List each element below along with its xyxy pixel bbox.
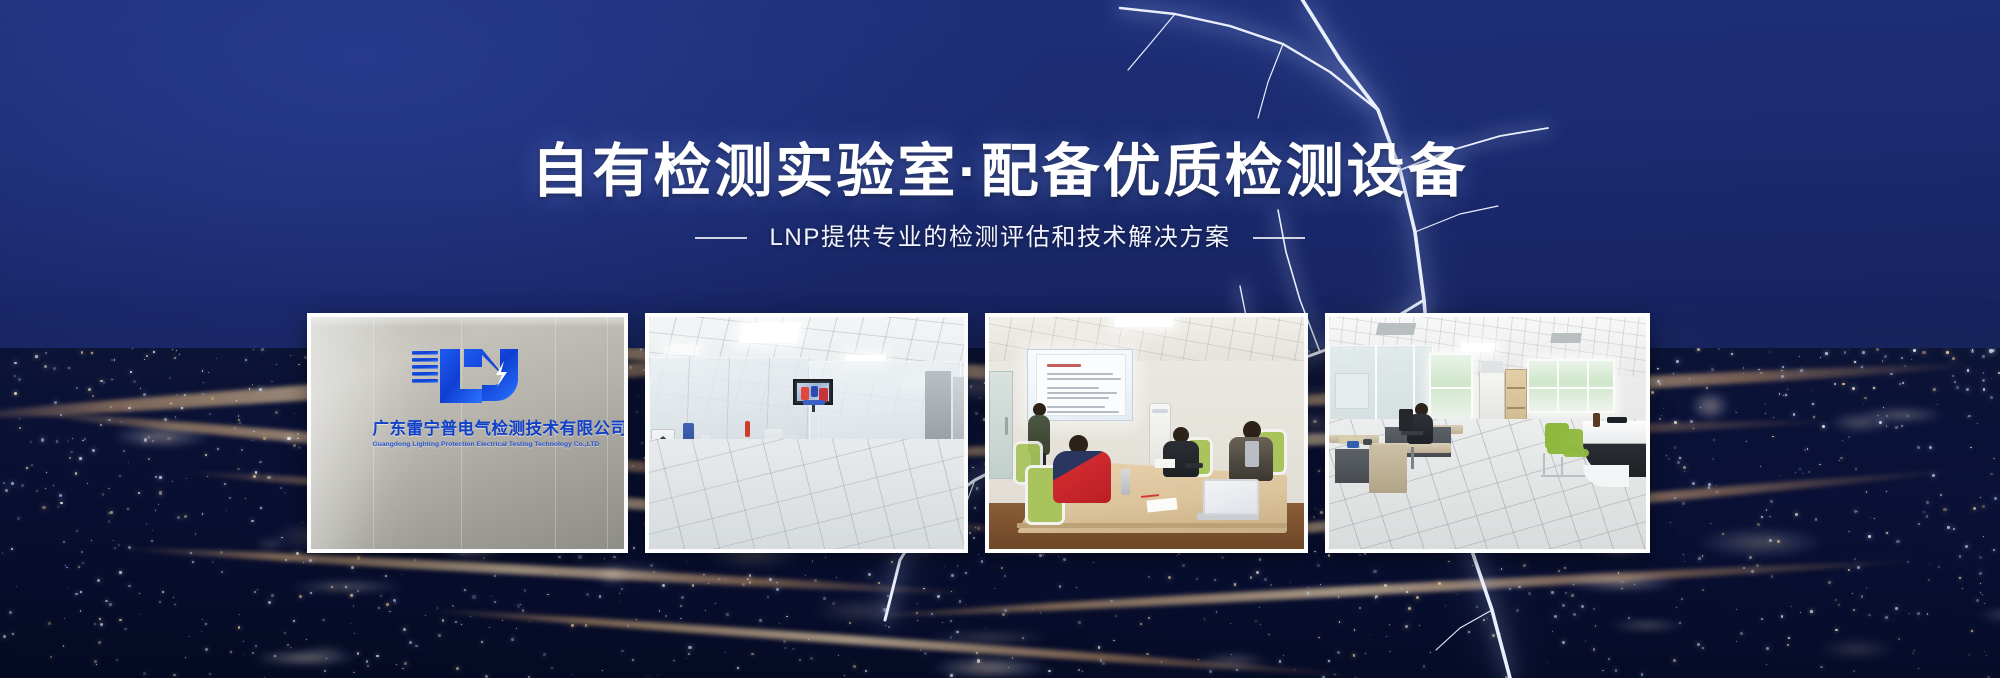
city-light-point [1353, 654, 1356, 657]
city-light-point [1736, 412, 1737, 413]
city-light-point [1168, 576, 1171, 579]
city-light-point [1713, 439, 1715, 441]
city-light-point [981, 560, 984, 563]
city-light-point [1731, 353, 1733, 355]
city-light-point [1661, 415, 1663, 417]
city-light-point [1595, 625, 1597, 627]
city-light-point [1787, 644, 1789, 646]
city-light-point [158, 504, 159, 505]
city-light-cluster [1819, 639, 1894, 659]
ceiling-light [1114, 317, 1174, 327]
city-light-point [76, 387, 78, 389]
gallery-item-office-area[interactable] [1325, 313, 1650, 553]
city-light-point [1899, 383, 1901, 385]
city-light-point [202, 513, 203, 514]
city-light-point [162, 591, 164, 593]
city-light-point [1547, 662, 1548, 663]
city-light-point [1216, 611, 1217, 612]
city-light-point [1773, 417, 1775, 419]
monitor-screen [797, 383, 829, 401]
city-light-point [251, 520, 254, 523]
city-light-point [116, 659, 118, 661]
city-light-point [409, 641, 412, 644]
city-light-point [1063, 558, 1066, 561]
city-light-point [114, 359, 116, 361]
city-light-point [1998, 372, 2000, 374]
counter-device [1607, 417, 1627, 423]
city-light-point [688, 646, 691, 649]
city-light-point [396, 664, 397, 665]
city-light-point [1221, 556, 1224, 559]
city-light-point [239, 422, 241, 424]
city-light-point [1882, 360, 1884, 362]
slide-text-line [1047, 373, 1113, 375]
city-light-point [1932, 474, 1935, 477]
chair-leg [1543, 453, 1545, 477]
banner-title: 自有检测实验室·配备优质检测设备 [531, 137, 1468, 207]
city-light-point [558, 556, 561, 559]
city-light-point [494, 601, 497, 604]
city-light-point [5, 489, 8, 492]
city-light-point [1848, 531, 1849, 532]
city-light-point [965, 604, 966, 605]
city-light-point [1982, 594, 1983, 595]
city-light-point [245, 359, 247, 361]
city-light-point [1760, 466, 1761, 467]
slide-heading [1047, 364, 1081, 367]
city-light-point [310, 592, 312, 594]
city-light-point [1365, 653, 1366, 654]
city-light-point [63, 541, 66, 544]
city-light-point [1984, 603, 1985, 604]
city-light-point [1268, 634, 1269, 635]
city-light-point [59, 494, 62, 497]
city-light-point [1483, 619, 1486, 622]
city-light-point [1711, 368, 1714, 371]
city-light-point [128, 546, 131, 549]
city-light-point [144, 359, 146, 361]
city-light-point [586, 593, 589, 596]
city-light-point [1102, 662, 1105, 665]
city-light-point [1890, 373, 1893, 376]
city-light-point [173, 597, 174, 598]
city-light-point [1926, 501, 1929, 504]
city-light-point [18, 378, 21, 381]
city-light-point [14, 392, 17, 395]
city-light-point [1359, 607, 1361, 609]
city-light-point [1178, 553, 1180, 555]
city-light-point [1895, 607, 1898, 610]
city-light-point [688, 653, 690, 655]
city-light-point [75, 593, 78, 596]
ceiling-light [664, 345, 700, 355]
city-light-point [1901, 425, 1903, 427]
city-light-point [680, 605, 682, 607]
city-light-point [298, 446, 301, 449]
paper-document [1155, 459, 1175, 468]
city-light-point [354, 633, 355, 634]
city-light-point [1852, 387, 1855, 390]
city-light-point [72, 438, 73, 439]
city-light-point [221, 571, 223, 573]
city-light-point [491, 596, 492, 597]
city-light-point [1907, 561, 1909, 563]
city-light-point [389, 611, 391, 613]
city-light-point [164, 418, 167, 421]
city-light-point [1337, 651, 1340, 654]
city-light-point [1968, 415, 1971, 418]
city-light-point [275, 411, 278, 414]
city-light-point [1234, 583, 1236, 585]
city-light-point [1977, 423, 1978, 424]
city-light-point [185, 478, 187, 480]
lnp-logo-icon [408, 345, 528, 407]
city-light-point [376, 655, 378, 657]
photo-gallery: 广东雷宁普电气检测技术有限公司 Guangdong Lighting Prote… [307, 313, 1653, 553]
city-light-point [202, 370, 204, 372]
city-light-point [1854, 361, 1855, 362]
city-light-point [253, 349, 254, 350]
city-light-point [1573, 613, 1576, 616]
city-light-point [1885, 616, 1887, 618]
city-light-point [950, 620, 952, 622]
city-light-point [224, 483, 226, 485]
city-light-point [681, 596, 684, 599]
city-light-point [322, 619, 325, 622]
city-light-point [1781, 375, 1784, 378]
city-light-point [659, 610, 661, 612]
city-light-point [1100, 659, 1103, 662]
city-light-point [263, 437, 266, 440]
city-light-point [91, 540, 92, 541]
city-light-point [779, 623, 780, 624]
city-light-point [177, 516, 180, 519]
city-light-point [543, 653, 546, 656]
city-light-point [1779, 393, 1781, 395]
city-light-point [1991, 378, 1992, 379]
city-light-point [1389, 624, 1390, 625]
city-light-point [108, 520, 111, 523]
city-light-point [119, 571, 121, 573]
screen-content [801, 387, 809, 400]
city-light-point [1848, 569, 1851, 572]
city-light-point [54, 401, 57, 404]
photo-testing-laboratory [649, 317, 964, 549]
city-light-point [1875, 388, 1876, 389]
city-light-point [1780, 475, 1781, 476]
city-light-point [287, 644, 289, 646]
city-light-point [1826, 372, 1827, 373]
city-light-point [1746, 441, 1747, 442]
equipment-behind-glass [1335, 373, 1369, 409]
city-light-point [378, 607, 380, 609]
city-light-point [1868, 614, 1870, 616]
city-light-point [985, 628, 986, 629]
city-light-point [173, 674, 175, 676]
city-light-point [299, 595, 302, 598]
city-light-point [172, 349, 173, 350]
city-light-point [209, 673, 211, 675]
city-light-point [148, 458, 150, 460]
city-light-point [920, 649, 922, 651]
city-light-point [1659, 418, 1661, 420]
city-light-point [241, 449, 244, 452]
city-light-point [1979, 556, 1982, 559]
city-light-point [1702, 647, 1704, 649]
city-light-point [692, 584, 695, 587]
window-mullion [1529, 387, 1613, 389]
city-light-point [123, 450, 125, 452]
city-light-point [604, 558, 605, 559]
city-light-point [1328, 554, 1331, 557]
city-light-point [1853, 609, 1855, 611]
gallery-item-company-signage[interactable]: 广东雷宁普电气检测技术有限公司 Guangdong Lighting Prote… [307, 313, 628, 553]
city-light-point [1799, 468, 1801, 470]
gallery-item-testing-laboratory[interactable] [645, 313, 968, 553]
city-light-point [306, 639, 307, 640]
city-light-point [195, 533, 196, 534]
city-light-point [1761, 516, 1763, 518]
city-light-point [170, 403, 172, 405]
city-light-point [784, 647, 787, 650]
city-light-point [1811, 390, 1812, 391]
city-light-point [243, 641, 245, 643]
city-light-point [1279, 660, 1282, 663]
city-light-point [1954, 381, 1956, 383]
city-light-point [19, 427, 22, 430]
city-light-point [46, 472, 47, 473]
city-light-point [792, 648, 795, 651]
city-light-point [1681, 598, 1684, 601]
city-light-point [1795, 472, 1796, 473]
city-light-point [1765, 403, 1766, 404]
city-light-point [140, 388, 141, 389]
city-light-point [1585, 640, 1586, 641]
city-light-point [127, 508, 129, 510]
city-light-point [261, 348, 264, 351]
gallery-item-meeting-room[interactable] [985, 313, 1308, 553]
person-red-jacket [1051, 435, 1113, 521]
city-light-point [1663, 408, 1664, 409]
city-light-point [1146, 653, 1149, 656]
city-light-point [759, 619, 762, 622]
city-light-point [1712, 458, 1714, 460]
city-light-point [1059, 585, 1062, 588]
city-light-point [1984, 651, 1985, 652]
person-participant-right [1229, 421, 1275, 487]
city-light-point [1516, 609, 1519, 612]
city-light-point [1808, 471, 1810, 473]
city-light-point [353, 672, 355, 674]
city-light-point [470, 616, 471, 617]
city-light-point [1917, 446, 1920, 449]
city-light-point [1908, 613, 1910, 615]
city-light-point [489, 627, 491, 629]
city-light-point [1970, 447, 1972, 449]
city-light-point [188, 636, 190, 638]
city-light-point [69, 457, 71, 459]
city-light-point [1457, 594, 1458, 595]
city-light-point [1994, 497, 1997, 500]
city-light-point [944, 566, 945, 567]
city-light-point [1983, 388, 1986, 391]
city-light-point [1840, 457, 1843, 460]
city-light-point [17, 517, 20, 520]
city-light-point [1766, 509, 1768, 511]
city-light-point [1736, 641, 1737, 642]
city-light-point [1766, 647, 1769, 650]
city-light-point [26, 467, 28, 469]
rule-left-icon [695, 237, 747, 239]
city-light-point [81, 351, 84, 354]
city-light-point [82, 562, 84, 564]
city-light-point [516, 628, 518, 630]
city-light-point [1986, 655, 1987, 656]
glass-door [989, 371, 1013, 479]
city-light-point [1264, 578, 1267, 581]
city-light-point [103, 381, 105, 383]
slide-text-line [1047, 397, 1109, 399]
city-light-point [1196, 578, 1199, 581]
city-light-point [1682, 502, 1685, 505]
city-light-point [1993, 549, 1995, 551]
city-light-point [1876, 348, 1879, 351]
city-light-point [1810, 610, 1813, 613]
ac-vent [1152, 409, 1168, 413]
city-light-point [1668, 458, 1670, 460]
screen-content [811, 386, 818, 397]
city-light-point [1581, 605, 1584, 608]
city-light-point [1593, 608, 1595, 610]
city-light-point [705, 610, 707, 612]
city-light-point [1736, 609, 1737, 610]
city-light-point [9, 611, 12, 614]
city-light-point [1676, 607, 1677, 608]
city-light-point [128, 585, 131, 588]
city-light-point [1813, 416, 1815, 418]
city-light-point [502, 620, 503, 621]
city-light-point [1902, 382, 1904, 384]
city-light-point [1927, 613, 1929, 615]
city-light-point [1523, 564, 1526, 567]
city-light-point [268, 601, 271, 604]
city-light-point [351, 566, 354, 569]
city-light-point [1971, 630, 1973, 632]
city-light-point [1914, 650, 1915, 651]
city-light-point [111, 359, 113, 361]
city-light-point [673, 660, 675, 662]
city-light-point [1965, 545, 1968, 548]
city-light-point [238, 419, 240, 421]
city-light-point [686, 561, 687, 562]
city-light-point [1674, 497, 1676, 499]
city-light-point [917, 620, 918, 621]
city-light-cluster [1566, 573, 1676, 591]
city-light-cluster [1699, 528, 1821, 557]
city-light-point [42, 506, 45, 509]
city-light-point [21, 484, 24, 487]
city-light-point [404, 662, 407, 665]
window-mullion [1557, 361, 1559, 411]
city-light-point [119, 475, 121, 477]
city-light-point [1772, 436, 1774, 438]
city-light-cluster [933, 657, 1046, 678]
city-light-point [524, 589, 527, 592]
city-light-point [1058, 556, 1059, 557]
city-light-point [82, 440, 84, 442]
city-light-point [1896, 540, 1899, 543]
city-light-point [1953, 528, 1955, 530]
city-light-point [1270, 584, 1273, 587]
city-light-point [461, 624, 462, 625]
chair-base [1559, 475, 1585, 477]
city-light-point [1565, 592, 1567, 594]
city-light-point [1697, 643, 1700, 646]
city-light-point [1528, 592, 1531, 595]
banner-subtitle: LNP提供专业的检测评估和技术解决方案 [769, 222, 1230, 254]
city-light-point [799, 659, 801, 661]
city-light-point [324, 670, 326, 672]
city-light-point [1982, 355, 1985, 358]
city-light-point [176, 350, 177, 351]
city-light-point [1884, 355, 1887, 358]
city-light-point [252, 440, 254, 442]
city-light-point [1787, 389, 1789, 391]
city-light-point [783, 640, 786, 643]
city-light-point [367, 665, 370, 668]
city-light-point [1032, 609, 1033, 610]
city-light-point [1766, 664, 1767, 665]
city-light-point [1795, 513, 1798, 516]
city-road-lights [860, 556, 1919, 621]
city-light-point [1602, 670, 1604, 672]
city-light-point [203, 382, 205, 384]
city-light-point [284, 492, 287, 495]
city-light-point [1472, 565, 1473, 566]
city-light-point [776, 588, 779, 591]
city-light-point [252, 384, 253, 385]
city-light-point [1430, 652, 1431, 653]
city-light-point [686, 658, 687, 659]
city-light-point [35, 355, 38, 358]
city-light-point [81, 551, 83, 553]
city-light-point [1835, 629, 1837, 631]
city-light-point [80, 591, 82, 593]
city-light-point [45, 488, 46, 489]
city-light-point [1990, 396, 1993, 399]
city-light-point [522, 609, 525, 612]
city-light-point [1861, 595, 1864, 598]
city-light-point [1416, 596, 1419, 599]
city-light-point [1076, 587, 1077, 588]
city-light-point [1849, 349, 1851, 351]
city-light-point [1973, 507, 1976, 510]
city-light-point [1692, 482, 1695, 485]
city-light-point [737, 667, 739, 669]
city-light-point [1807, 448, 1809, 450]
city-light-point [98, 641, 101, 644]
city-light-point [472, 595, 475, 598]
city-light-point [297, 433, 299, 435]
city-light-point [1834, 383, 1836, 385]
city-light-point [174, 604, 176, 606]
city-light-point [1743, 567, 1746, 570]
city-light-point [814, 579, 817, 582]
city-light-point [386, 603, 389, 606]
city-light-point [176, 394, 177, 395]
city-light-point [1740, 632, 1743, 635]
city-light-point [179, 354, 180, 355]
